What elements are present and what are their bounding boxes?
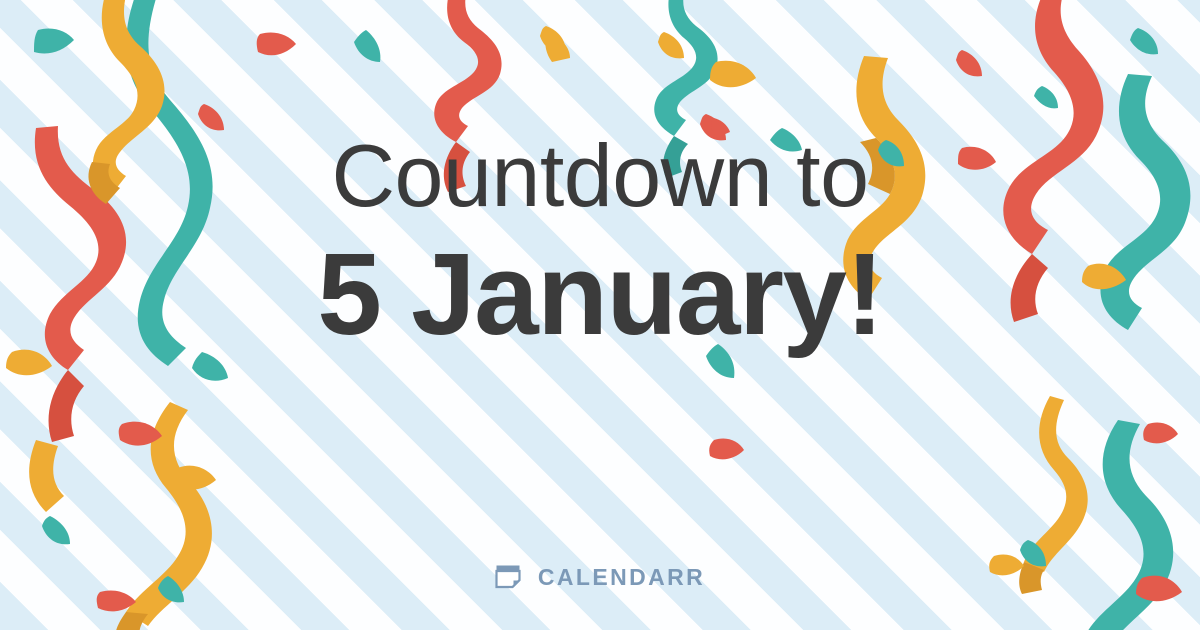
flake-coral-4 [956, 50, 982, 76]
calendar-page-icon [495, 562, 525, 592]
flake-teal-1 [34, 28, 74, 53]
flake-gold-4 [6, 350, 52, 376]
streamer-gold-bottom-center-left [29, 440, 64, 512]
flake-coral-2 [198, 104, 224, 130]
flake-coral-1 [257, 32, 296, 55]
flake-teal-6 [1130, 28, 1158, 54]
countdown-banner: Countdown to 5 January! CALENDARR [0, 0, 1200, 630]
streamer-coral-top-center [434, 0, 501, 142]
flake-coral-11 [709, 438, 744, 459]
streamer-gold-bottom-left-tip [115, 612, 148, 630]
flake-teal-7 [1034, 86, 1058, 108]
flake-gold-3 [710, 61, 756, 87]
streamer-coral-left-tail [49, 370, 84, 442]
brand-logo: CALENDARR [0, 562, 1200, 592]
headline-line-2: 5 January! [0, 236, 1200, 352]
flake-gold-8 [658, 32, 684, 58]
flake-teal-4 [192, 352, 228, 381]
page-title: Countdown to 5 January! [0, 132, 1200, 352]
headline-line-1: Countdown to [0, 132, 1200, 220]
brand-name-text: CALENDARR [538, 564, 705, 591]
flake-gold-2 [545, 34, 570, 62]
flake-teal-2 [354, 30, 380, 62]
flake-gold-5 [174, 466, 216, 490]
flake-coral-8 [1143, 422, 1178, 443]
flake-teal-8 [42, 516, 70, 544]
